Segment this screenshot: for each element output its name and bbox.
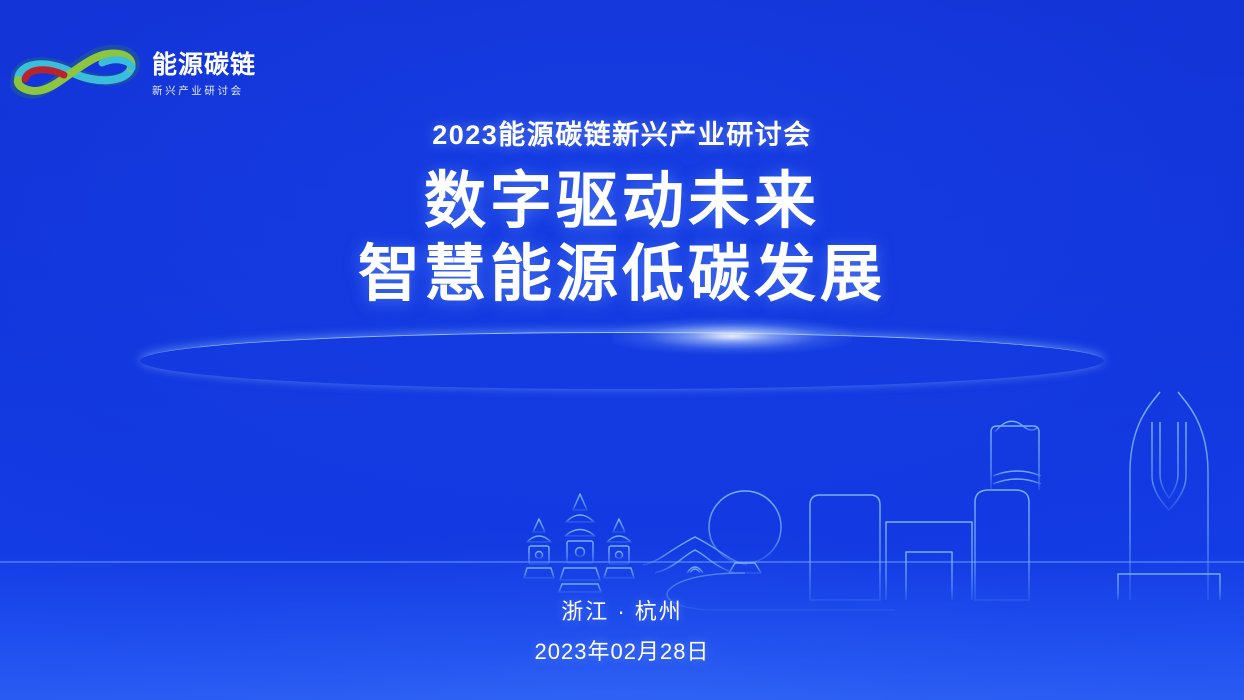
headline-line-2: 智慧能源低碳发展 [0,238,1244,311]
glow-arc-decoration [0,330,1244,400]
main-headline: 数字驱动未来 智慧能源低碳发展 [0,165,1244,311]
brand-logo-subtitle: 新兴产业研讨会 [152,83,256,98]
event-subtitle: 2023能源碳链新兴产业研讨会 [0,118,1244,153]
brand-logo-text: 能源碳链 新兴产业研讨会 [152,48,256,97]
brand-logo: 能源碳链 新兴产业研讨会 [6,34,276,112]
event-date: 2023年02月28日 [0,636,1244,668]
event-meta: 浙江 · 杭州 2023年02月28日 [0,596,1244,668]
arc-line [140,332,1104,389]
brand-logo-title: 能源碳链 [152,52,256,78]
event-location: 浙江 · 杭州 [0,596,1244,628]
headline-line-1: 数字驱动未来 [0,165,1244,238]
headline-group: 2023能源碳链新兴产业研讨会 数字驱动未来 智慧能源低碳发展 [0,118,1244,311]
arc-highlight [612,318,852,354]
infinity-ribbon-logo-icon [6,37,146,109]
presentation-slide: 能源碳链 新兴产业研讨会 2023能源碳链新兴产业研讨会 数字驱动未来 智慧能源… [0,0,1244,700]
